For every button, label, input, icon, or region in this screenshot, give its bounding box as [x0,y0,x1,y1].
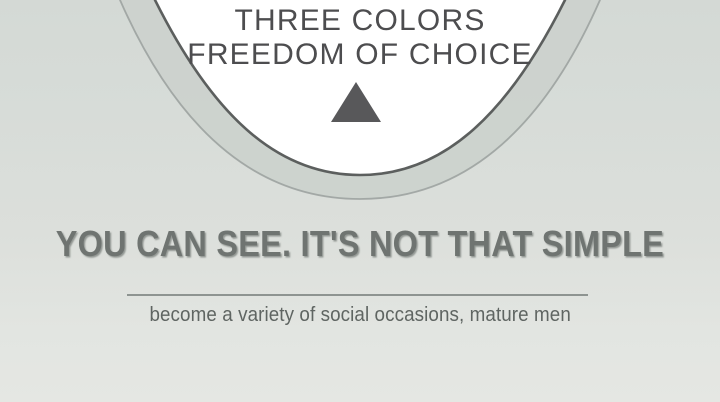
headline-text: YOU CAN SEE. IT'S NOT THAT SIMPLE [56,224,664,264]
title-block: THREE COLORS FREEDOM OF CHOICE [0,4,720,72]
divider-rule [127,294,588,296]
subtitle: become a variety of social occasions, ma… [0,302,720,328]
subtitle-text: become a variety of social occasions, ma… [149,302,570,328]
title-line-primary: THREE COLORS [0,4,720,38]
headline: YOU CAN SEE. IT'S NOT THAT SIMPLE [0,224,720,264]
promo-banner: THREE COLORS FREEDOM OF CHOICE YOU CAN S… [0,0,720,402]
title-line-secondary: FREEDOM OF CHOICE [0,38,720,72]
triangle-up-icon [331,82,381,122]
